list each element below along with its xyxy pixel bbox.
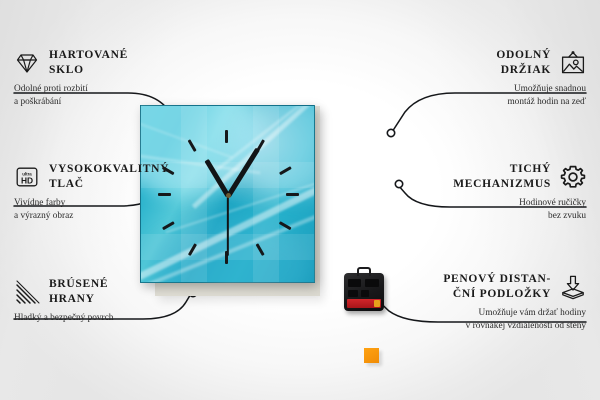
feature-description: Hodinové ručičky bez zvuku: [396, 197, 586, 223]
picture-frame-icon: [560, 50, 586, 76]
gear-icon: [560, 164, 586, 190]
diamond-icon: [14, 50, 40, 76]
clock-tick: [286, 193, 299, 196]
feature-description: Hladký a bezpečný povrch: [14, 312, 204, 325]
movement-hanger: [357, 267, 371, 276]
promo-stage: HARTOVANÉ SKLO Odolné proti rozbití a po…: [0, 0, 600, 400]
clock-tick: [225, 130, 228, 143]
feature-title: HARTOVANÉ SKLO: [49, 48, 128, 77]
feature-foam-spacers: PENOVÝ DISTAN- ČNÍ PODLOŽKY Umožňuje vám…: [381, 272, 586, 333]
feature-title: PENOVÝ DISTAN- ČNÍ PODLOŽKY: [443, 272, 551, 301]
feature-durable-holder: ODOLNÝ DRŽIAK Umožňuje snadnou montáž ho…: [396, 48, 586, 109]
feature-description: Umožňuje snadnou montáž hodin na zeď: [396, 83, 586, 109]
feature-title: TICHÝ MECHANIZMUS: [453, 162, 551, 191]
feature-description: Vivídne farby a výrazný obraz: [14, 197, 204, 223]
ultra-hd-icon: ultra HD: [14, 164, 40, 190]
feature-high-quality-print: ultra HD VYSOKOKVALITNÝ TLAČ Vivídne far…: [14, 162, 204, 223]
feature-hardened-glass: HARTOVANÉ SKLO Odolné proti rozbití a po…: [14, 48, 204, 109]
svg-text:HD: HD: [21, 175, 33, 185]
clock-center-hub: [226, 193, 231, 198]
foam-spacer-pad: [364, 348, 379, 363]
hatch-lines-icon: [14, 279, 40, 305]
feature-polished-edges: BRÚSENÉ HRANY Hladký a bezpečný povrch: [14, 277, 204, 325]
clock-second-hand: [227, 196, 229, 256]
feature-description: Umožňuje vám držať hodiny v rovnakej vzd…: [381, 307, 586, 333]
feature-title: BRÚSENÉ HRANY: [49, 277, 108, 306]
feature-title: VYSOKOKVALITNÝ TLAČ: [49, 162, 169, 191]
clock-movement: [344, 273, 384, 311]
foam-pad-arrow-icon: [560, 274, 586, 300]
feature-silent-mechanism: TICHÝ MECHANIZMUS Hodinové ručičky bez z…: [396, 162, 586, 223]
movement-battery: [347, 299, 381, 308]
feature-description: Odolné proti rozbití a poškrábání: [14, 83, 204, 109]
feature-title: ODOLNÝ DRŽIAK: [496, 48, 551, 77]
